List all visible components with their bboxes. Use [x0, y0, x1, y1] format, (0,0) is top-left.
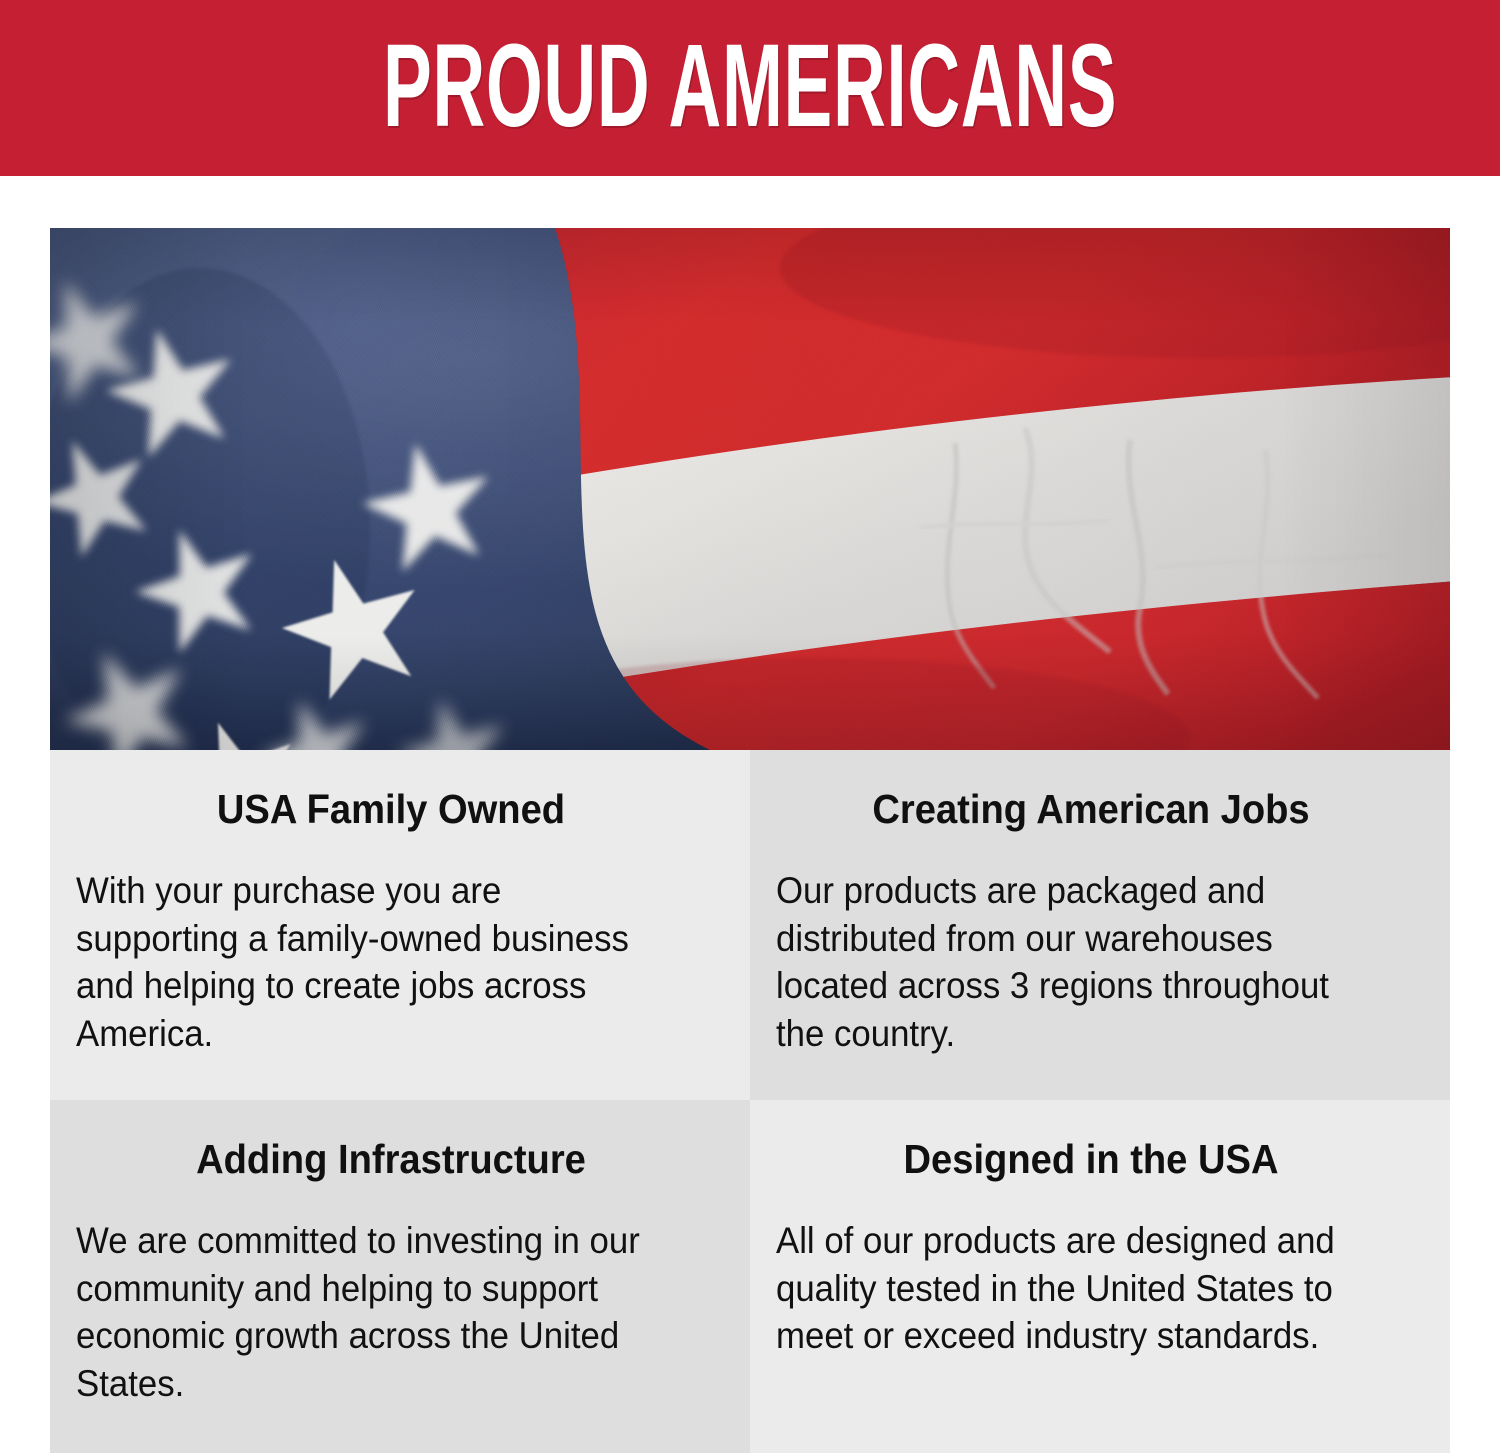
feature-body: With your purchase you are supporting a … [76, 867, 668, 1058]
feature-body: Our products are packaged and distribute… [776, 867, 1368, 1058]
feature-title: USA Family Owned [98, 788, 684, 831]
feature-card-adding-infrastructure: Adding Infrastructure We are committed t… [50, 1100, 750, 1453]
feature-card-creating-american-jobs: Creating American Jobs Our products are … [750, 750, 1450, 1100]
flag-illustration [50, 228, 1450, 750]
feature-body: All of our products are designed and qua… [776, 1217, 1368, 1360]
feature-grid: USA Family Owned With your purchase you … [50, 750, 1450, 1453]
proud-americans-infographic: PROUD AMERICANS [0, 0, 1500, 1453]
feature-title: Adding Infrastructure [98, 1138, 684, 1181]
american-flag-photo [50, 228, 1450, 750]
feature-body: We are committed to investing in our com… [76, 1217, 668, 1408]
page-title: PROUD AMERICANS [383, 27, 1117, 145]
feature-title: Creating American Jobs [798, 788, 1384, 831]
feature-card-designed-in-the-usa: Designed in the USA All of our products … [750, 1100, 1450, 1453]
feature-card-usa-family-owned: USA Family Owned With your purchase you … [50, 750, 750, 1100]
feature-title: Designed in the USA [798, 1138, 1384, 1181]
header-banner: PROUD AMERICANS [0, 0, 1500, 176]
